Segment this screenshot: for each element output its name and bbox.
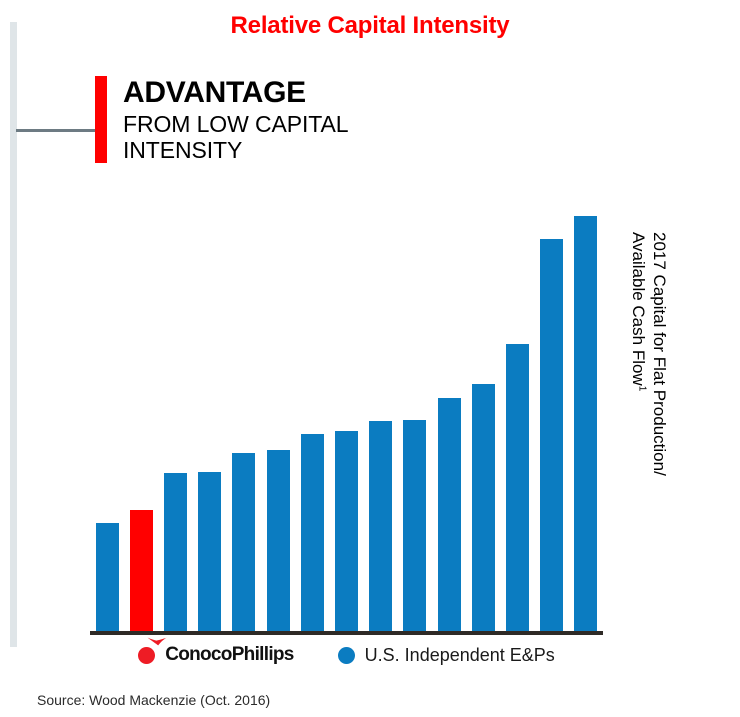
bar-chart xyxy=(90,170,603,635)
callout-connector-line xyxy=(16,129,96,132)
bar-peer xyxy=(164,473,187,631)
callout-subline-1: FROM LOW CAPITAL xyxy=(123,111,348,137)
bar-peer xyxy=(438,398,461,631)
bar-conocophillips xyxy=(130,510,153,631)
bar-slot xyxy=(569,170,603,631)
bar-peer xyxy=(506,344,529,631)
bar-peer xyxy=(232,453,255,631)
callout-accent-bar xyxy=(95,76,107,163)
bar-slot xyxy=(227,170,261,631)
bar-slot xyxy=(90,170,124,631)
conocophillips-wordmark: ConocoPhillips xyxy=(165,644,293,666)
x-axis-line xyxy=(90,631,603,635)
legend-item-us-independent-enps[interactable]: U.S. Independent E&Ps xyxy=(338,645,555,666)
bar-peer xyxy=(574,216,597,631)
bar-peer xyxy=(96,523,119,631)
callout-headline: ADVANTAGE xyxy=(123,76,348,110)
bar-peer xyxy=(540,239,563,631)
callout-subline-2: INTENSITY xyxy=(123,137,348,163)
legend-label-us-independent-enps: U.S. Independent E&Ps xyxy=(365,645,555,666)
bar-slot xyxy=(535,170,569,631)
bar-slot xyxy=(398,170,432,631)
bar-slot xyxy=(500,170,534,631)
bar-peer xyxy=(369,421,392,631)
bar-peer xyxy=(301,434,324,631)
y-axis-label-line-1: 2017 Capital for Flat Production/ xyxy=(650,232,669,476)
callout-block: ADVANTAGE FROM LOW CAPITAL INTENSITY xyxy=(95,76,348,163)
slide-left-rail xyxy=(10,22,17,647)
bar-slot xyxy=(261,170,295,631)
bar-slot xyxy=(466,170,500,631)
page-title: Relative Capital Intensity xyxy=(0,12,740,40)
bar-slot xyxy=(193,170,227,631)
bar-slot xyxy=(432,170,466,631)
bar-slot xyxy=(364,170,398,631)
bar-slot xyxy=(329,170,363,631)
bar-slot xyxy=(295,170,329,631)
source-note: Source: Wood Mackenzie (Oct. 2016) xyxy=(37,692,270,708)
bar-peer xyxy=(403,420,426,631)
y-axis-label-line-2: Available Cash Flow xyxy=(629,232,648,386)
callout-text: ADVANTAGE FROM LOW CAPITAL INTENSITY xyxy=(107,76,348,163)
blue-dot-icon xyxy=(338,647,355,664)
bar-slot xyxy=(124,170,158,631)
bar-peer xyxy=(198,472,221,631)
bar-peer xyxy=(335,431,358,631)
conocophillips-swoosh-icon xyxy=(147,637,167,646)
bar-peer xyxy=(472,384,495,631)
bar-slot xyxy=(158,170,192,631)
bar-peer xyxy=(267,450,290,631)
legend-item-conocophillips[interactable]: ConocoPhillips xyxy=(138,644,293,666)
bar-chart-bars xyxy=(90,170,603,631)
y-axis-label-footnote-marker: 1 xyxy=(636,386,647,392)
y-axis-label: 2017 Capital for Flat Production/ Availa… xyxy=(626,232,670,498)
red-dot-icon xyxy=(138,647,155,664)
callout-subline: FROM LOW CAPITAL INTENSITY xyxy=(123,111,348,163)
chart-legend: ConocoPhillips U.S. Independent E&Ps xyxy=(90,644,603,666)
